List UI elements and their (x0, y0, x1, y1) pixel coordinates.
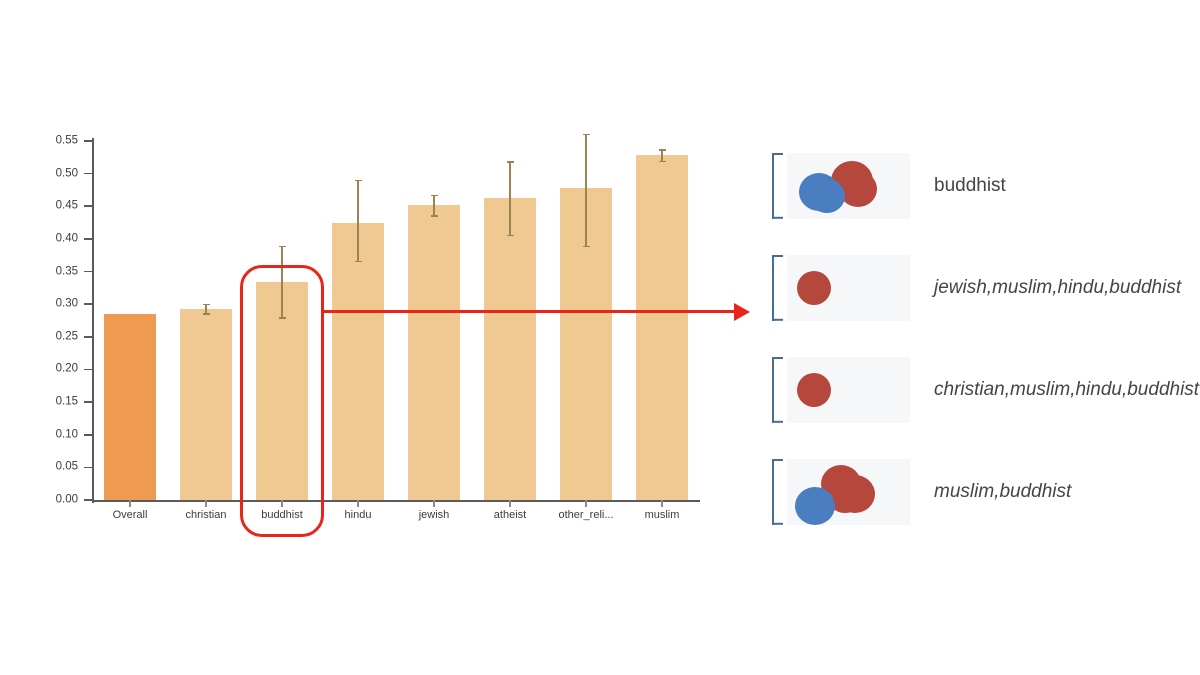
error-bar-cap (659, 161, 666, 162)
error-bar-cap (659, 149, 666, 150)
error-bar-muslim (661, 149, 663, 160)
y-tick-label: 0.20 (32, 364, 78, 376)
legend-swatch-image (787, 153, 910, 219)
bar-chart: 0.000.050.100.150.200.250.300.350.400.45… (0, 0, 760, 675)
error-bar-christian (205, 304, 207, 314)
error-bar-jewish (433, 195, 435, 216)
y-tick-label: 0.40 (32, 233, 78, 245)
x-tick-mark (585, 500, 586, 507)
error-bar-other-reli--- (585, 134, 587, 246)
y-axis-tick-labels: 0.000.050.100.150.200.250.300.350.400.45… (26, 0, 78, 675)
x-tick-mark (205, 500, 206, 507)
x-tick-mark (357, 500, 358, 507)
error-bar-cap (431, 215, 438, 216)
blob-shape (795, 487, 835, 525)
x-tick-mark (509, 500, 510, 507)
x-tick-mark (433, 500, 434, 507)
highlight-box-buddhist (240, 265, 324, 537)
y-tick-label: 0.00 (32, 494, 78, 506)
legend-label: jewish,muslim,hindu,buddhist (934, 277, 1181, 299)
bracket-icon (772, 357, 785, 423)
error-bar-cap (583, 246, 590, 247)
blob-shape (797, 271, 831, 305)
screenshot-root: 0.000.050.100.150.200.250.300.350.400.45… (0, 0, 1200, 675)
x-axis-line (92, 500, 700, 502)
error-bar-cap (203, 313, 210, 314)
error-bar-cap (279, 246, 286, 247)
bar-hindu (332, 223, 384, 500)
legend-swatch-image (787, 255, 910, 321)
bar-series (92, 0, 700, 500)
blob-shape (839, 171, 877, 207)
bar-jewish (408, 205, 460, 500)
error-bar-cap (507, 161, 514, 162)
x-tick-label: Overall (113, 509, 148, 521)
error-bar-cap (431, 195, 438, 196)
bar-overall (104, 314, 156, 500)
legend-item[interactable]: buddhist (772, 150, 1192, 222)
bar-muslim (636, 155, 688, 500)
y-tick-label: 0.30 (32, 298, 78, 310)
blob-shape (797, 373, 831, 407)
x-tick-label: atheist (494, 509, 526, 521)
error-bar-cap (355, 180, 362, 181)
legend-label: muslim,buddhist (934, 481, 1071, 503)
x-tick-label: hindu (345, 509, 372, 521)
legend-swatch-image (787, 459, 910, 525)
error-bar-cap (583, 134, 590, 135)
y-tick-label: 0.55 (32, 135, 78, 147)
annotation-arrow-line (324, 310, 734, 313)
x-tick-label: jewish (419, 509, 450, 521)
x-tick-mark (661, 500, 662, 507)
x-tick-label: muslim (645, 509, 680, 521)
legend-panel: buddhistjewish,muslim,hindu,buddhistchri… (772, 150, 1192, 558)
x-tick-label: other_reli... (558, 509, 613, 521)
y-tick-label: 0.15 (32, 396, 78, 408)
error-bar-cap (355, 261, 362, 262)
blob-shape (809, 179, 845, 213)
y-tick-label: 0.50 (32, 168, 78, 180)
y-tick-label: 0.35 (32, 266, 78, 278)
y-tick-label: 0.10 (32, 429, 78, 441)
error-bar-atheist (509, 161, 511, 235)
legend-item[interactable]: christian,muslim,hindu,buddhist (772, 354, 1192, 426)
legend-label: buddhist (934, 175, 1006, 197)
y-tick-label: 0.45 (32, 201, 78, 213)
bar-atheist (484, 198, 536, 500)
bracket-icon (772, 459, 785, 525)
error-bar-cap (203, 304, 210, 305)
legend-item[interactable]: muslim,buddhist (772, 456, 1192, 528)
y-tick-label: 0.05 (32, 462, 78, 474)
annotation-arrow-head (734, 303, 750, 321)
error-bar-hindu (357, 180, 359, 262)
bracket-icon (772, 255, 785, 321)
x-tick-mark (129, 500, 130, 507)
legend-swatch-image (787, 357, 910, 423)
bracket-icon (772, 153, 785, 219)
x-tick-label: christian (186, 509, 227, 521)
bar-christian (180, 309, 232, 500)
legend-item[interactable]: jewish,muslim,hindu,buddhist (772, 252, 1192, 324)
y-tick-label: 0.25 (32, 331, 78, 343)
error-bar-cap (507, 235, 514, 236)
legend-label: christian,muslim,hindu,buddhist (934, 379, 1199, 401)
